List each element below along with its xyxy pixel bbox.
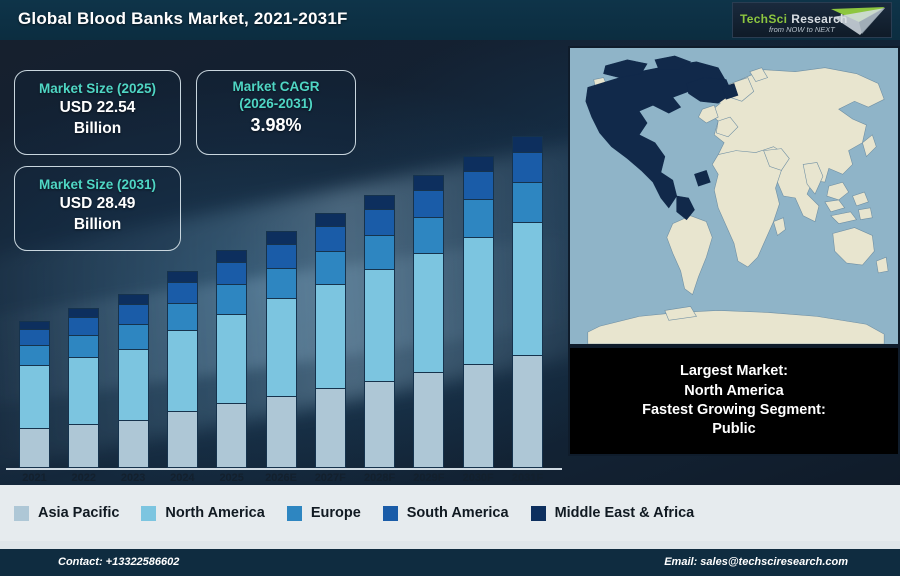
bar-2023[interactable] — [118, 294, 149, 468]
bar-segment-south-america[interactable] — [118, 304, 149, 323]
bar-2021[interactable] — [19, 321, 50, 468]
techsci-research-logo[interactable]: TechSciResearch from NOW to NEXT — [732, 2, 892, 38]
bar-segment-north-america[interactable] — [167, 330, 198, 412]
largest-market-value: North America — [684, 382, 783, 401]
bar-segment-asia-pacific[interactable] — [68, 424, 99, 468]
bar-segment-south-america[interactable] — [216, 262, 247, 285]
bar-segment-asia-pacific[interactable] — [167, 411, 198, 468]
logo-text-research: Research — [787, 12, 847, 26]
footer-contact: Contact: +13322586602 — [58, 556, 179, 568]
bar-segment-middle-east-africa[interactable] — [19, 321, 50, 330]
largest-market-label: Largest Market: — [680, 362, 788, 381]
infographic-page: Global Blood Banks Market, 2021-2031F Te… — [0, 0, 900, 576]
legend-label-asia-pacific: Asia Pacific — [38, 505, 119, 521]
bar-segment-europe[interactable] — [19, 345, 50, 365]
bar-segment-south-america[interactable] — [167, 282, 198, 303]
logo-tagline: from NOW to NEXT — [769, 25, 835, 34]
bar-segment-north-america[interactable] — [512, 222, 543, 355]
stat-card-value: 3.98% — [197, 113, 355, 137]
bar-segment-asia-pacific[interactable] — [216, 403, 247, 468]
bar-segment-asia-pacific[interactable] — [364, 381, 395, 468]
bar-segment-europe[interactable] — [216, 284, 247, 313]
legend-swatch-south-america — [383, 506, 398, 521]
stat-card-value: USD 28.49 — [15, 194, 180, 215]
bar-segment-asia-pacific[interactable] — [118, 420, 149, 468]
bar-segment-europe[interactable] — [512, 182, 543, 222]
bar-segment-north-america[interactable] — [364, 269, 395, 380]
bar-segment-middle-east-africa[interactable] — [463, 156, 494, 171]
bar-segment-middle-east-africa[interactable] — [216, 250, 247, 262]
stat-card-title: Market Size (2025) — [15, 81, 180, 98]
bar-2024[interactable] — [167, 271, 198, 468]
stat-card-market-cagr: Market CAGR (2026-2031) 3.98% — [196, 70, 356, 155]
bar-segment-south-america[interactable] — [315, 226, 346, 251]
bar-segment-europe[interactable] — [68, 335, 99, 358]
bar-2026E[interactable] — [266, 231, 297, 468]
stat-card-market-size-2025: Market Size (2025) USD 22.54 Billion — [14, 70, 181, 155]
legend-swatch-north-america — [141, 506, 156, 521]
bar-segment-north-america[interactable] — [118, 349, 149, 421]
stat-card-unit: Billion — [15, 215, 180, 236]
bar-segment-asia-pacific[interactable] — [266, 396, 297, 468]
bar-segment-asia-pacific[interactable] — [512, 355, 543, 468]
bar-segment-south-america[interactable] — [68, 317, 99, 334]
bar-segment-middle-east-africa[interactable] — [413, 175, 444, 190]
bar-segment-north-america[interactable] — [413, 253, 444, 372]
legend-item-south-america[interactable]: South America — [383, 505, 509, 521]
legend-item-asia-pacific[interactable]: Asia Pacific — [14, 505, 119, 521]
legend-item-north-america[interactable]: North America — [141, 505, 264, 521]
legend-label-europe: Europe — [311, 505, 361, 521]
bar-segment-south-america[interactable] — [266, 244, 297, 268]
page-title: Global Blood Banks Market, 2021-2031F — [18, 9, 348, 29]
stat-card-unit: Billion — [15, 119, 180, 140]
bar-segment-middle-east-africa[interactable] — [118, 294, 149, 304]
stat-card-market-size-2031: Market Size (2031) USD 28.49 Billion — [14, 166, 181, 251]
chart-legend: Asia PacificNorth AmericaEuropeSouth Ame… — [0, 485, 900, 541]
bar-segment-middle-east-africa[interactable] — [364, 195, 395, 209]
bar-segment-europe[interactable] — [315, 251, 346, 284]
bar-segment-north-america[interactable] — [19, 365, 50, 427]
chart-baseline — [6, 468, 562, 470]
bar-segment-south-america[interactable] — [413, 190, 444, 217]
world-map-panel — [568, 46, 900, 346]
bar-segment-north-america[interactable] — [68, 357, 99, 424]
bar-segment-middle-east-africa[interactable] — [68, 308, 99, 318]
bar-2027F[interactable] — [315, 213, 346, 468]
legend-swatch-middle-east-africa — [531, 506, 546, 521]
bar-2022[interactable] — [68, 308, 99, 468]
stat-card-title: Market CAGR — [197, 79, 355, 96]
bar-segment-europe[interactable] — [413, 217, 444, 253]
bar-2030F[interactable] — [463, 156, 494, 468]
bar-segment-asia-pacific[interactable] — [315, 388, 346, 468]
bar-segment-europe[interactable] — [266, 268, 297, 299]
bar-segment-north-america[interactable] — [266, 298, 297, 395]
fastest-segment-value: Public — [712, 420, 756, 439]
bar-segment-south-america[interactable] — [19, 329, 50, 345]
bar-segment-middle-east-africa[interactable] — [512, 136, 543, 152]
header-bar: Global Blood Banks Market, 2021-2031F Te… — [0, 0, 900, 40]
key-findings-callout: Largest Market: North America Fastest Gr… — [568, 346, 900, 456]
bar-segment-asia-pacific[interactable] — [463, 364, 494, 468]
bar-segment-south-america[interactable] — [364, 209, 395, 235]
bar-segment-north-america[interactable] — [216, 314, 247, 404]
bar-segment-asia-pacific[interactable] — [413, 372, 444, 468]
bar-segment-europe[interactable] — [463, 199, 494, 237]
bar-segment-europe[interactable] — [167, 303, 198, 330]
legend-swatch-asia-pacific — [14, 506, 29, 521]
legend-label-north-america: North America — [165, 505, 264, 521]
footer-email: Email: sales@techsciresearch.com — [664, 556, 848, 568]
legend-label-middle-east-africa: Middle East & Africa — [555, 505, 695, 521]
bar-2029F[interactable] — [413, 175, 444, 468]
legend-label-south-america: South America — [407, 505, 509, 521]
world-map-icon — [570, 48, 898, 344]
logo-text-techsci: TechSci — [740, 12, 787, 26]
legend-swatch-europe — [287, 506, 302, 521]
bar-segment-middle-east-africa[interactable] — [266, 231, 297, 244]
stat-card-subtitle: (2026-2031) — [197, 96, 355, 113]
bar-segment-south-america[interactable] — [463, 171, 494, 200]
stat-card-value: USD 22.54 — [15, 98, 180, 119]
bar-2025[interactable] — [216, 250, 247, 468]
bar-2031F[interactable] — [512, 136, 543, 468]
logo-wordmark: TechSciResearch — [740, 12, 848, 26]
x-axis-label-2031F: 2031F — [498, 472, 558, 484]
footer-bar: Contact: +13322586602 Email: sales@techs… — [0, 549, 900, 576]
bar-segment-europe[interactable] — [118, 324, 149, 349]
bar-segment-north-america[interactable] — [463, 237, 494, 363]
bar-segment-north-america[interactable] — [315, 284, 346, 388]
bar-segment-asia-pacific[interactable] — [19, 428, 50, 468]
bar-segment-europe[interactable] — [364, 235, 395, 269]
bar-segment-south-america[interactable] — [512, 152, 543, 182]
legend-item-middle-east-africa[interactable]: Middle East & Africa — [531, 505, 695, 521]
bar-segment-middle-east-africa[interactable] — [167, 271, 198, 282]
legend-item-europe[interactable]: Europe — [287, 505, 361, 521]
bar-2028F[interactable] — [364, 195, 395, 468]
fastest-segment-label: Fastest Growing Segment: — [642, 401, 826, 420]
stat-card-title: Market Size (2031) — [15, 177, 180, 194]
bar-segment-middle-east-africa[interactable] — [315, 213, 346, 226]
